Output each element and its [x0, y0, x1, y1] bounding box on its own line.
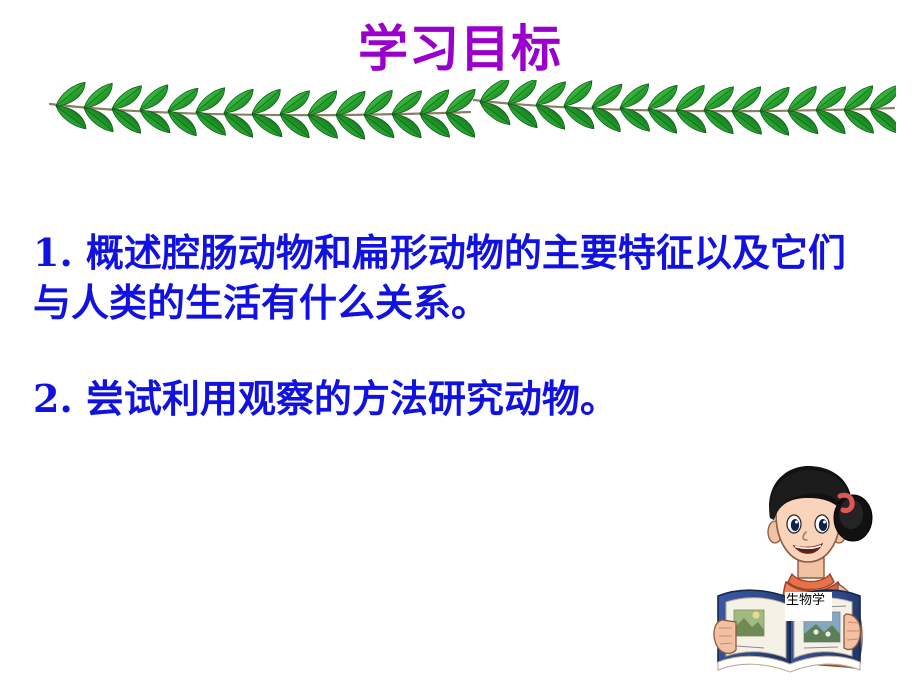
page-title: 学习目标 — [0, 22, 920, 77]
objectives-list: 1. 概述腔肠动物和扁形动物的主要特征以及它们与人类的生活有什么关系。 2. 尝… — [33, 228, 863, 424]
leafy-vine-divider-icon — [48, 80, 896, 152]
objective-item-2: 2. 尝试利用观察的方法研究动物。 — [33, 374, 863, 424]
book-label-text: 生物学 — [786, 593, 825, 608]
slide-canvas: 学习目标 — [0, 0, 920, 690]
objective-item-1: 1. 概述腔肠动物和扁形动物的主要特征以及它们与人类的生活有什么关系。 — [33, 228, 863, 328]
girl-head — [768, 466, 872, 562]
girl-reading-book-illustration — [712, 462, 920, 690]
